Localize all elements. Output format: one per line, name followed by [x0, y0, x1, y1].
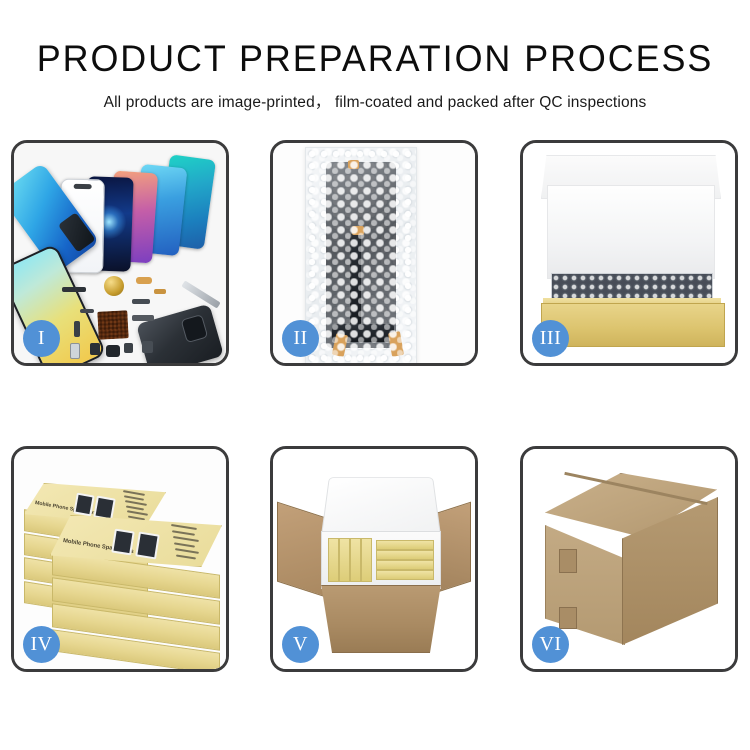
screw-grid-tray — [97, 310, 128, 340]
flex-cable — [350, 234, 361, 338]
process-step-4[interactable]: Mobile Phone Spare Parts Mobile Phone Sp… — [11, 446, 229, 672]
box-spec-line — [171, 524, 197, 530]
spare-part — [70, 343, 80, 359]
adhesive-tape — [388, 331, 404, 357]
process-step-5[interactable]: V — [270, 446, 478, 672]
step-badge-1: I — [23, 320, 60, 357]
yellow-box-item — [376, 550, 434, 560]
box-spec-line — [126, 505, 144, 510]
page-subtitle: All products are image-printed， film-coa… — [0, 77, 750, 112]
foam-box-body — [321, 531, 441, 589]
spare-part — [90, 343, 100, 355]
spare-part — [80, 309, 94, 313]
page-title: PRODUCT PREPARATION PROCESS — [11, 0, 739, 77]
process-step-grid: I II — [0, 136, 750, 696]
step-badge-2: II — [282, 320, 319, 357]
adhesive-tape — [348, 160, 359, 169]
box-spec-line — [123, 490, 145, 495]
yellow-box-item — [350, 538, 361, 582]
adhesive-tape — [352, 226, 364, 235]
box-label-phone-image — [111, 529, 135, 556]
step-badge-4: IV — [23, 626, 60, 663]
box-spec-line — [125, 500, 147, 505]
spare-part — [132, 299, 150, 304]
flex-cable-part — [154, 289, 166, 294]
spare-part — [62, 287, 86, 292]
foam-sheet — [547, 185, 715, 279]
yellow-box-item — [328, 538, 339, 582]
spare-part — [124, 343, 133, 353]
spare-part — [106, 345, 120, 357]
yellow-box-item — [361, 538, 372, 582]
box-label-phone-image — [135, 532, 160, 560]
step-badge-3: III — [532, 320, 569, 357]
box-spec-line — [176, 554, 196, 559]
box-label-phone-image — [73, 493, 94, 517]
gold-component — [104, 276, 124, 296]
yellow-box-item — [376, 540, 434, 550]
page-header: PRODUCT PREPARATION PROCESS All products… — [0, 0, 750, 128]
yellow-box-item — [339, 538, 350, 582]
box-spec-line — [173, 536, 199, 542]
process-step-6[interactable]: VI — [520, 446, 738, 672]
process-step-1[interactable]: I — [11, 140, 229, 366]
process-step-2[interactable]: II — [270, 140, 478, 366]
lcd-screen-assembly — [326, 162, 396, 348]
box-spec-line — [174, 542, 195, 547]
yellow-box-item — [376, 570, 434, 580]
bubble-wrap-bag — [305, 147, 417, 363]
step-badge-6: VI — [532, 626, 569, 663]
carton-handle-tab — [559, 607, 577, 629]
box-spec-line — [175, 548, 199, 553]
box-spec-line — [127, 510, 148, 515]
spare-part — [142, 341, 153, 353]
step-badge-5: V — [282, 626, 319, 663]
flex-cable-part — [136, 277, 152, 284]
spare-part — [132, 315, 154, 321]
process-step-3[interactable]: III — [520, 140, 738, 366]
box-spec-line — [172, 530, 195, 535]
spare-part — [74, 321, 80, 337]
carton-front-panel — [313, 585, 449, 653]
carton-handle-tab — [559, 549, 577, 573]
yellow-box-item — [376, 560, 434, 570]
box-label-phone-image — [93, 496, 116, 521]
